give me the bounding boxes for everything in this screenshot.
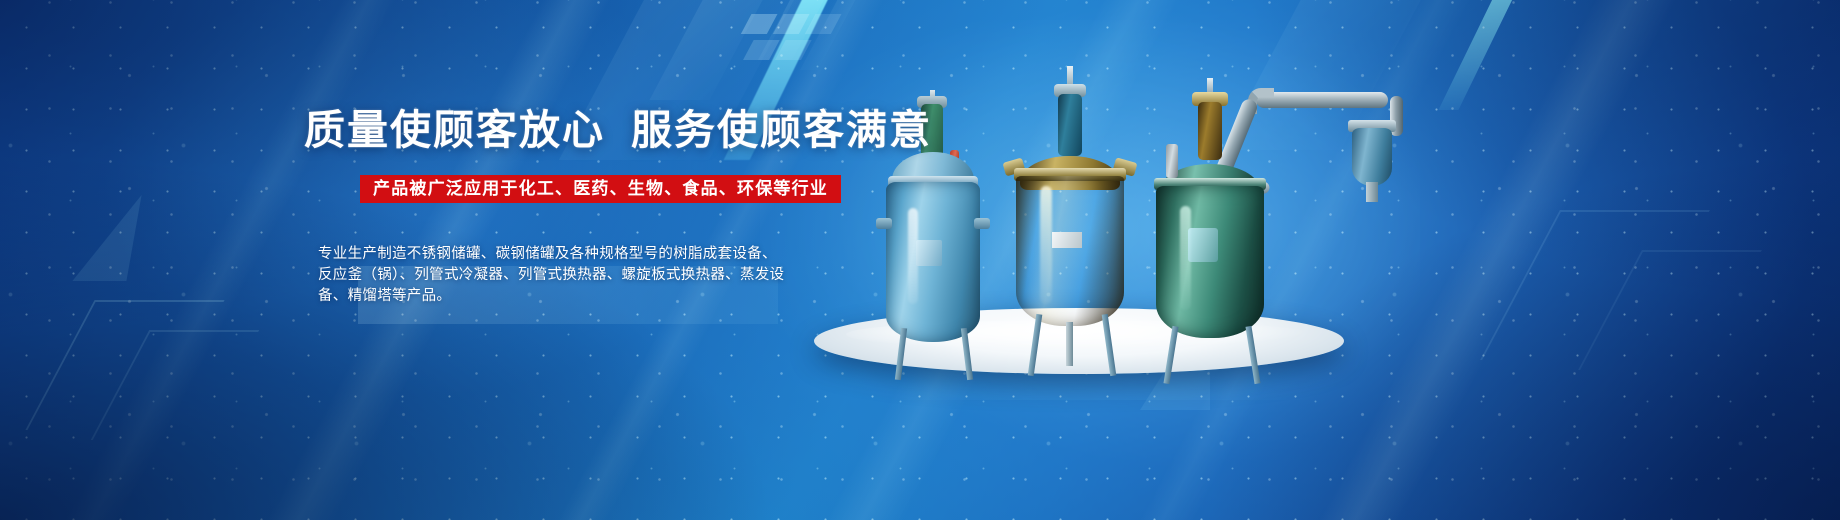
banner-headline: 质量使顾客放心服务使顾客满意 (304, 96, 932, 156)
banner-red-ribbon: 产品被广泛应用于化工、医药、生物、食品、环保等行业 (360, 175, 841, 203)
hero-banner: 质量使顾客放心服务使顾客满意 产品被广泛应用于化工、医药、生物、食品、环保等行业… (0, 0, 1840, 520)
headline-part-1: 质量使顾客放心 (304, 106, 605, 154)
banner-text-content: 质量使顾客放心服务使顾客满意 产品被广泛应用于化工、医药、生物、食品、环保等行业… (0, 0, 1840, 520)
red-ribbon-text: 产品被广泛应用于化工、医药、生物、食品、环保等行业 (373, 181, 828, 198)
banner-paragraph: 专业生产制造不锈钢储罐、碳钢储罐及各种规格型号的树脂成套设备、反应釜（锅）、列管… (318, 244, 788, 307)
headline-part-2: 服务使顾客满意 (631, 106, 932, 154)
